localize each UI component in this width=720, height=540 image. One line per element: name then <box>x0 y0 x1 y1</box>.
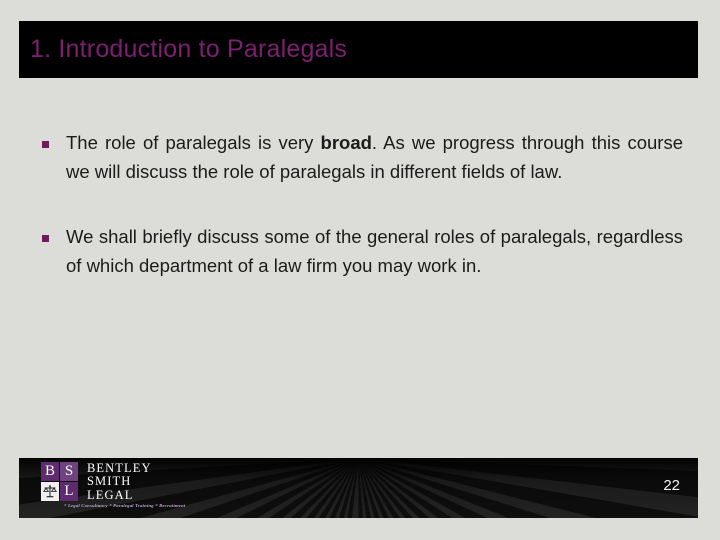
logo-tagline: * Legal Consultancy * Paralegal Training… <box>64 503 254 509</box>
square-bullet-icon <box>42 235 49 242</box>
bullet-1-emphasis: broad <box>321 132 372 153</box>
logo-letter-s: S <box>60 462 78 481</box>
title-band: 1. Introduction to Paralegals <box>19 21 698 78</box>
logo-word-legal: LEGAL <box>87 489 247 502</box>
logo-word-bentley: BENTLEY <box>87 462 247 475</box>
logo: B S L <box>41 462 251 514</box>
bullet-1-text-before: The role of paralegals is very <box>66 132 321 153</box>
scales-of-justice-icon <box>43 484 57 499</box>
list-item-text: The role of paralegals is very broad. As… <box>66 128 683 186</box>
list-item-text: We shall briefly discuss some of the gen… <box>66 222 683 280</box>
logo-wordmark: BENTLEY SMITH LEGAL <box>87 462 247 502</box>
logo-monogram-grid: B S L <box>41 462 79 502</box>
logo-cell-b: B <box>41 462 59 481</box>
page-number: 22 <box>663 477 680 495</box>
square-bullet-icon <box>42 141 49 148</box>
logo-word-smith: SMITH <box>87 475 247 488</box>
body-content: The role of paralegals is very broad. As… <box>38 128 683 280</box>
page-title: 1. Introduction to Paralegals <box>30 30 347 68</box>
logo-letter-b: B <box>41 462 59 481</box>
logo-cell-scales <box>41 482 59 501</box>
logo-letter-l: L <box>60 482 78 501</box>
slide: 1. Introduction to Paralegals The role o… <box>0 0 720 540</box>
list-item: The role of paralegals is very broad. As… <box>38 128 683 186</box>
footer-band: B S L <box>19 458 698 518</box>
bullet-2-text-before: We shall briefly discuss some of the gen… <box>66 226 683 276</box>
logo-cell-l: L <box>60 482 78 501</box>
list-item: We shall briefly discuss some of the gen… <box>38 222 683 280</box>
logo-cell-s: S <box>60 462 78 481</box>
